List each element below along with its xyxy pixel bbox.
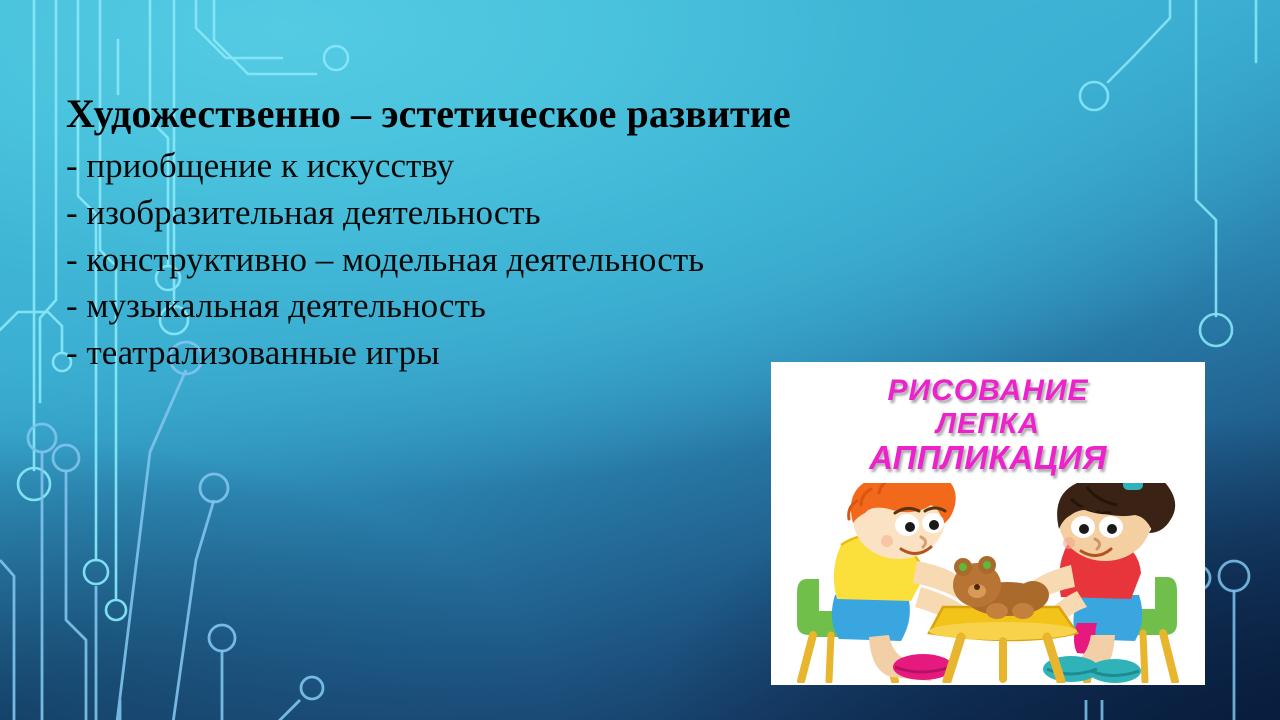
- illustration-card: РИСОВАНИЕ ЛЕПКА АППЛИКАЦИЯ: [771, 362, 1205, 685]
- slide-canvas: Художественно – эстетическое развитие - …: [0, 0, 1280, 720]
- children-crafting-illustration: [771, 483, 1205, 683]
- page-title: Художественно – эстетическое развитие: [66, 92, 1066, 137]
- illustration-heading: РИСОВАНИЕ ЛЕПКА АППЛИКАЦИЯ: [771, 374, 1205, 477]
- bullet-item-3: - конструктивно – модельная деятельность: [66, 237, 1066, 284]
- heading-line-risovanie: РИСОВАНИЕ: [771, 374, 1205, 408]
- slide-text-block: Художественно – эстетическое развитие - …: [66, 92, 1066, 377]
- bullet-item-2: - изобразительная деятельность: [66, 190, 1066, 237]
- bullet-item-1: - приобщение к искусству: [66, 143, 1066, 190]
- heading-line-lepka: ЛЕПКА: [771, 408, 1205, 440]
- craft-table: [929, 607, 1077, 681]
- bullet-item-4: - музыкальная деятельность: [66, 283, 1066, 330]
- heading-line-applikaciya: АППЛИКАЦИЯ: [771, 440, 1205, 477]
